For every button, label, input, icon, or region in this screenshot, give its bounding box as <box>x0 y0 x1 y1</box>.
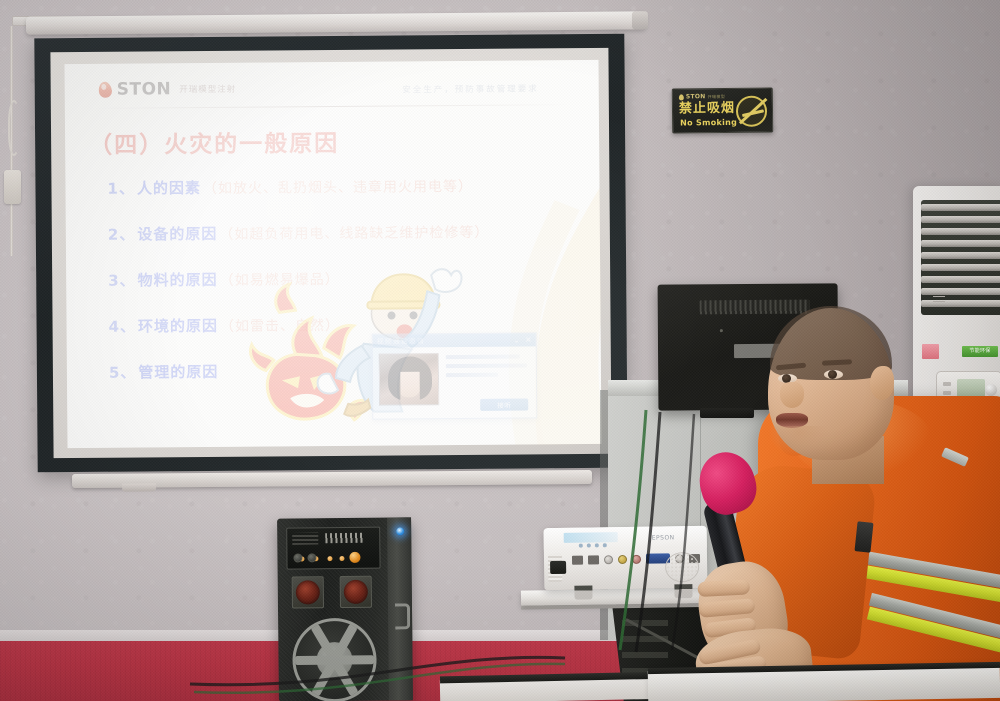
ear <box>870 366 894 400</box>
panel-silkscreen <box>292 532 318 544</box>
projection-screen: STON 开瑞模型注射 安全生产，预防事故管理要求 （四）火灾的一般原因 <box>34 34 627 473</box>
popup-title: 视频通话邀请 <box>377 336 425 346</box>
mic-jack[interactable] <box>307 553 316 562</box>
nose <box>780 382 804 408</box>
slide-header-divider <box>95 104 569 109</box>
sign-brand-sub: 开瑞模型 <box>708 93 726 99</box>
hanging-cord-loop[interactable] <box>8 100 20 156</box>
slide-logo-subtitle: 开瑞模型注射 <box>179 83 236 95</box>
sign-brand: STON 开瑞模型 <box>679 93 725 100</box>
bullet-text: 物料的原因 <box>138 269 218 291</box>
speaker-led-display <box>325 533 363 543</box>
mic-jack[interactable] <box>293 553 302 562</box>
flame-droplet-icon <box>679 94 684 100</box>
popup-message-line <box>446 373 498 377</box>
caller-portrait <box>379 353 439 405</box>
speaker-handle[interactable] <box>395 603 410 629</box>
training-room-scene: STON 开瑞模型注射 安全生产，预防事故管理要求 （四）火灾的一般原因 <box>0 0 1000 701</box>
slide-content: STON 开瑞模型注射 安全生产，预防事故管理要求 （四）火灾的一般原因 <box>65 60 602 448</box>
flame-droplet-icon <box>98 81 113 99</box>
speaker-tweeter <box>340 576 372 608</box>
sign-chinese-text: 禁止吸烟 <box>679 102 735 117</box>
chin-highlight <box>768 426 828 456</box>
speaker-tweeter <box>292 576 324 608</box>
close-icon[interactable]: ✕ <box>525 336 532 344</box>
slide-title: （四）火灾的一般原因 <box>89 124 339 160</box>
eye <box>824 370 843 379</box>
bullet-number: 3、 <box>108 270 136 291</box>
sign-brand-name: STON <box>686 93 706 100</box>
bullet-number: 5、 <box>109 362 137 383</box>
blue-power-led <box>396 527 404 535</box>
popup-message-line <box>446 363 527 368</box>
chest-patch <box>854 521 873 553</box>
instructor <box>672 300 1000 701</box>
video-call-popup[interactable]: 视频通话邀请 ⌄ ✕ <box>372 332 538 419</box>
slide-logo-wordmark: STON <box>117 79 172 99</box>
bullet-text: 设备的原因 <box>137 223 217 245</box>
popup-title-bar[interactable]: 视频通话邀请 ⌄ ✕ <box>373 333 536 347</box>
projected-slide: STON 开瑞模型注射 安全生产，预防事故管理要求 （四）火灾的一般原因 <box>65 60 602 448</box>
bullet-text: 管理的原因 <box>138 361 218 383</box>
screen-pull-tab[interactable] <box>122 483 156 491</box>
popup-message <box>446 352 530 405</box>
floor-cables <box>150 648 570 701</box>
speaker-indicator <box>339 556 344 561</box>
popup-answer-button[interactable]: 接听 <box>480 398 528 410</box>
bullet-number: 1、 <box>107 178 135 199</box>
screen-roller-cap <box>632 11 648 29</box>
sign-english-text: No Smoking <box>680 118 737 128</box>
no-smoking-sign: STON 开瑞模型 禁止吸烟 No Smoking <box>672 87 773 133</box>
slide-header-tag: 安全生产，预防事故管理要求 <box>402 82 539 95</box>
volume-knob[interactable] <box>349 552 360 563</box>
bullet-number: 4、 <box>108 316 136 337</box>
bullet-text: 人的因素 <box>137 177 201 199</box>
no-smoking-icon <box>736 96 767 127</box>
bullet-text: 环境的原因 <box>138 315 218 337</box>
cord-plug[interactable] <box>4 170 21 204</box>
speaker-indicator <box>327 556 332 561</box>
chevron-down-icon[interactable]: ⌄ <box>513 336 520 344</box>
bullet-number: 2、 <box>108 224 136 245</box>
slide-logo: STON 开瑞模型注射 <box>99 79 237 100</box>
speaker-control-panel[interactable] <box>286 527 380 570</box>
popup-message-line <box>446 355 520 360</box>
popup-window-buttons[interactable]: ⌄ ✕ <box>513 336 531 344</box>
